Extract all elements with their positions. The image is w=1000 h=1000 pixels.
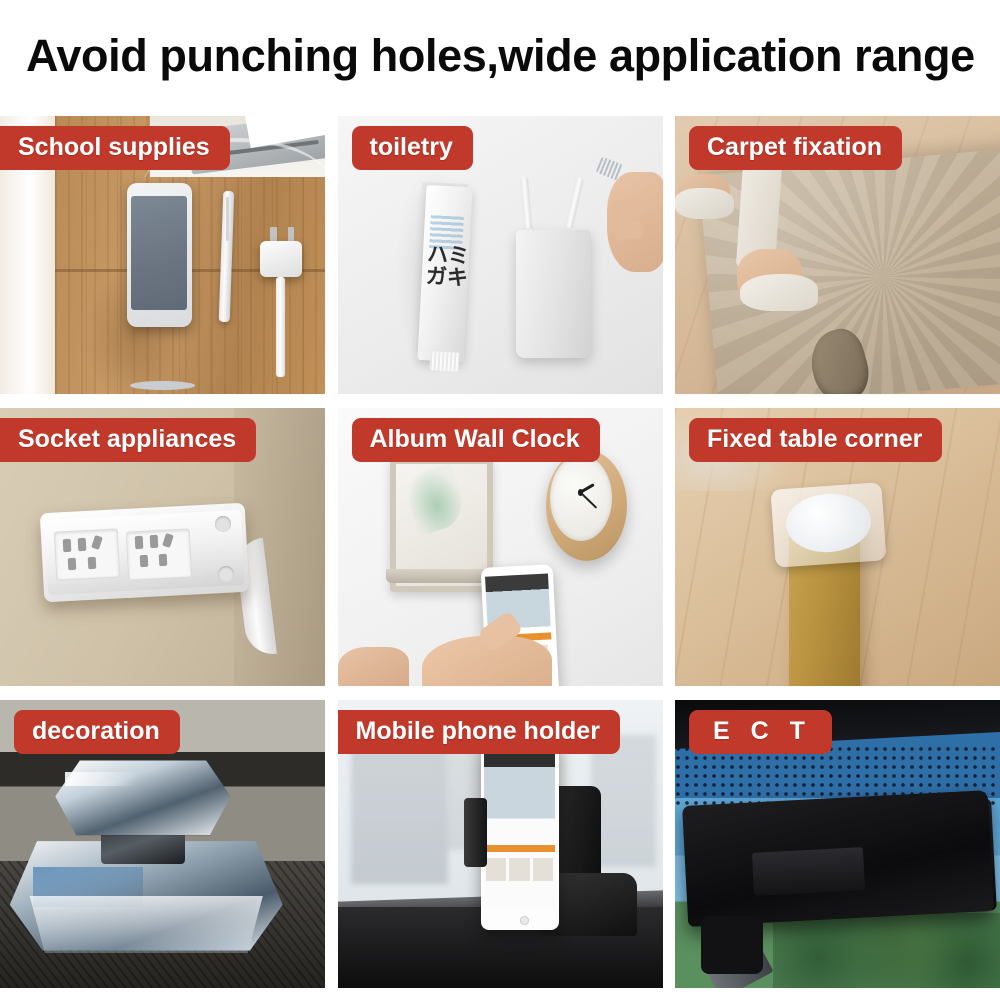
- phone-orange-bar: [484, 845, 554, 853]
- crystal-base-facet: [20, 896, 274, 954]
- holder-arm-left: [464, 798, 487, 867]
- panel-ect[interactable]: E C T: [675, 700, 1000, 988]
- panel-label-fixed-table-corner: Fixed table corner: [689, 418, 942, 462]
- panel-label-carpet-fixation: Carpet fixation: [689, 126, 902, 170]
- building-blur-right: [591, 735, 656, 867]
- strip-screw-bottom: [218, 566, 234, 582]
- panel-label-ect: E C T: [689, 710, 832, 754]
- phone-tile: [533, 858, 553, 881]
- phone-tile: [509, 858, 529, 881]
- socket-hole: [68, 558, 76, 571]
- trees-outside: [773, 913, 1000, 988]
- panel-decoration[interactable]: decoration: [0, 700, 325, 988]
- socket-hole: [159, 554, 167, 567]
- panel-label-album-wall-clock: Album Wall Clock: [352, 418, 600, 462]
- frame-ledge: [386, 569, 487, 583]
- phone-home-button: [130, 381, 195, 390]
- panel-label-toiletry: toiletry: [352, 126, 473, 170]
- panel-label-mobile-phone-holder: Mobile phone holder: [338, 710, 620, 754]
- socket-hole: [63, 538, 72, 551]
- socket-hole: [78, 537, 87, 550]
- smartphone: [481, 740, 559, 930]
- visor-clip: [701, 916, 763, 974]
- socket-hole: [139, 555, 147, 568]
- sock-front: [740, 274, 818, 310]
- panel-label-school-supplies: School supplies: [0, 126, 230, 170]
- socket-hole: [87, 557, 95, 570]
- visor-pocket: [752, 847, 865, 896]
- strip-screw-top: [215, 516, 231, 532]
- socket-hole: [135, 536, 144, 549]
- phone-screen: [484, 748, 554, 908]
- hand-supporting: [338, 647, 410, 686]
- panel-label-decoration: decoration: [14, 710, 180, 754]
- panel-mobile-phone-holder[interactable]: Mobile phone holder: [338, 700, 663, 988]
- infographic-page: Avoid punching holes,wide application ra…: [0, 0, 1000, 1000]
- finger-lower: [613, 220, 644, 240]
- clock-center-pin: [578, 489, 583, 495]
- panel-label-socket-appliances: Socket appliances: [0, 418, 256, 462]
- panel-fixed-table-corner[interactable]: Fixed table corner: [675, 408, 1000, 686]
- panel-carpet-fixation[interactable]: Carpet fixation: [675, 116, 1000, 394]
- page-title: Avoid punching holes,wide application ra…: [0, 0, 1000, 112]
- socket-hole: [149, 535, 158, 548]
- strip-brand-logo: [188, 530, 219, 570]
- crystal-glint: [65, 772, 137, 786]
- application-grid: School supplies ハミガキ: [0, 116, 1000, 988]
- outlet-one: [54, 529, 120, 582]
- toothbrush-cup: [516, 230, 591, 358]
- panel-socket-appliances[interactable]: Socket appliances: [0, 408, 325, 686]
- panel-school-supplies[interactable]: School supplies: [0, 116, 325, 394]
- phone-tile: [486, 858, 506, 881]
- tube-cap: [430, 352, 460, 373]
- tube-japanese-text: ハミガキ: [423, 243, 470, 345]
- smartphone: [127, 183, 192, 328]
- building-blur-left: [351, 746, 449, 884]
- clock-face: [550, 455, 612, 541]
- sock-back: [675, 188, 734, 219]
- phone-screen: [131, 196, 187, 310]
- phone-home-button: [520, 916, 530, 924]
- panel-toiletry[interactable]: ハミガキ toiletry: [338, 116, 663, 394]
- panel-album-wall-clock[interactable]: Album Wall Clock: [338, 408, 663, 686]
- power-plug: [260, 241, 302, 277]
- pen-clip: [226, 197, 230, 241]
- plug-cord: [276, 277, 284, 377]
